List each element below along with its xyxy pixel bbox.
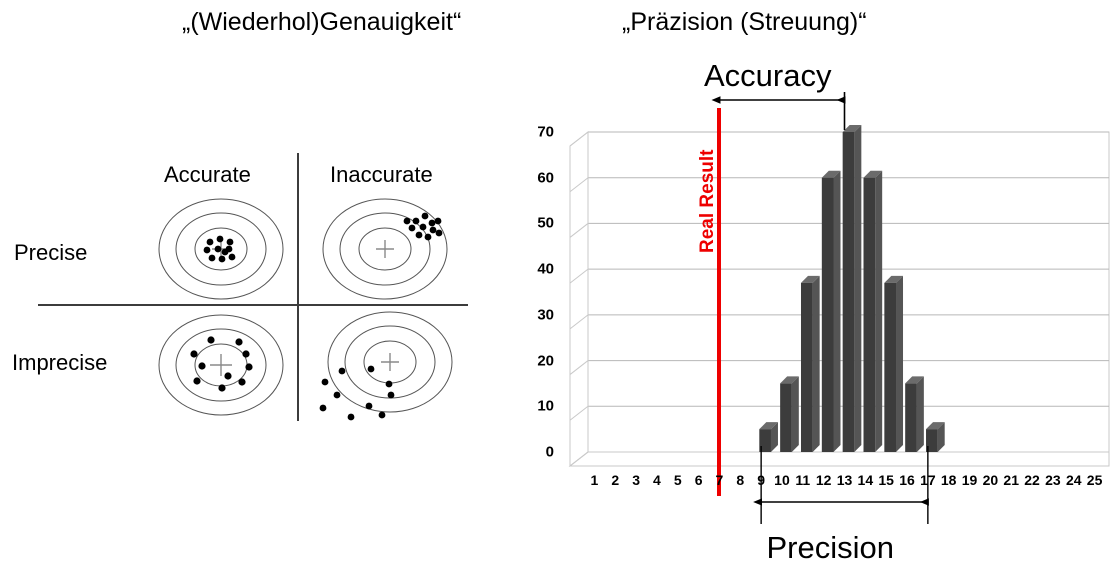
bar xyxy=(864,171,883,452)
bar xyxy=(822,171,841,452)
left-panel-title: „(Wiederhol)Genauigkeit“ xyxy=(182,8,461,37)
x-axis-tick: 23 xyxy=(1045,472,1061,488)
right-panel-title: „Präzision (Streuung)“ xyxy=(622,8,867,37)
accuracy-label: Accuracy xyxy=(704,58,831,94)
slide-root: „(Wiederhol)Genauigkeit“ „Präzision (Str… xyxy=(0,0,1120,533)
x-axis-tick: 19 xyxy=(962,472,978,488)
bar xyxy=(780,376,799,452)
column-header-inaccurate: Inaccurate xyxy=(330,162,433,188)
bar xyxy=(843,125,862,452)
bar xyxy=(884,276,903,452)
target-inaccurate-precise xyxy=(320,196,450,302)
y-axis-tick: 40 xyxy=(524,261,554,278)
row-header-precise: Precise xyxy=(14,240,87,266)
bar xyxy=(926,422,945,452)
column-header-accurate: Accurate xyxy=(164,162,251,188)
x-axis-tick: 15 xyxy=(878,472,894,488)
x-axis-tick: 4 xyxy=(653,472,661,488)
real-result-label: Real Result xyxy=(697,150,719,253)
y-axis-tick: 0 xyxy=(524,444,554,461)
x-axis-tick: 24 xyxy=(1066,472,1082,488)
x-axis-tick: 13 xyxy=(837,472,853,488)
x-axis-tick: 18 xyxy=(941,472,957,488)
x-axis-tick: 12 xyxy=(816,472,832,488)
row-header-imprecise: Imprecise xyxy=(12,350,107,376)
x-axis-tick: 21 xyxy=(1003,472,1019,488)
y-axis: 010203040506070 xyxy=(520,118,554,478)
bar xyxy=(905,376,924,452)
x-axis-tick: 14 xyxy=(858,472,874,488)
y-axis-tick: 20 xyxy=(524,352,554,369)
target-inaccurate-imprecise xyxy=(312,310,442,416)
x-axis-tick: 2 xyxy=(611,472,619,488)
y-axis-tick: 30 xyxy=(524,306,554,323)
precision-label: Precision xyxy=(767,530,895,566)
x-axis-tick: 5 xyxy=(674,472,682,488)
shot-dots xyxy=(404,213,443,241)
x-axis-tick: 22 xyxy=(1024,472,1040,488)
y-axis-tick: 60 xyxy=(524,169,554,186)
y-axis-tick: 10 xyxy=(524,398,554,415)
target-accurate-imprecise xyxy=(156,312,286,418)
x-axis-tick: 11 xyxy=(795,472,810,488)
bar xyxy=(801,276,820,452)
shot-dots xyxy=(204,236,236,263)
plot-area xyxy=(570,118,1115,478)
x-axis-tick: 3 xyxy=(632,472,640,488)
bar xyxy=(759,422,778,452)
x-axis-tick: 6 xyxy=(695,472,703,488)
accuracy-precision-quadrant-diagram: Accurate Inaccurate Precise Imprecise xyxy=(0,150,480,450)
x-axis: 1234567891011121314151617181920212223242… xyxy=(520,472,1120,496)
quadrant-vertical-divider xyxy=(297,153,299,421)
target-accurate-precise xyxy=(156,196,286,302)
precision-histogram-chart: 010203040506070 Real Result 123456789101… xyxy=(520,55,1120,533)
x-axis-tick: 7 xyxy=(716,472,724,488)
x-axis-tick: 16 xyxy=(899,472,915,488)
x-axis-tick: 10 xyxy=(774,472,790,488)
x-axis-tick: 9 xyxy=(757,472,765,488)
x-axis-tick: 17 xyxy=(920,472,936,488)
y-axis-tick: 50 xyxy=(524,215,554,232)
y-axis-tick: 70 xyxy=(524,124,554,141)
quadrant-horizontal-divider xyxy=(38,304,468,306)
x-axis-tick: 20 xyxy=(983,472,999,488)
x-axis-tick: 25 xyxy=(1087,472,1103,488)
x-axis-tick: 8 xyxy=(736,472,744,488)
x-axis-tick: 1 xyxy=(591,472,599,488)
shot-dots xyxy=(320,366,395,421)
